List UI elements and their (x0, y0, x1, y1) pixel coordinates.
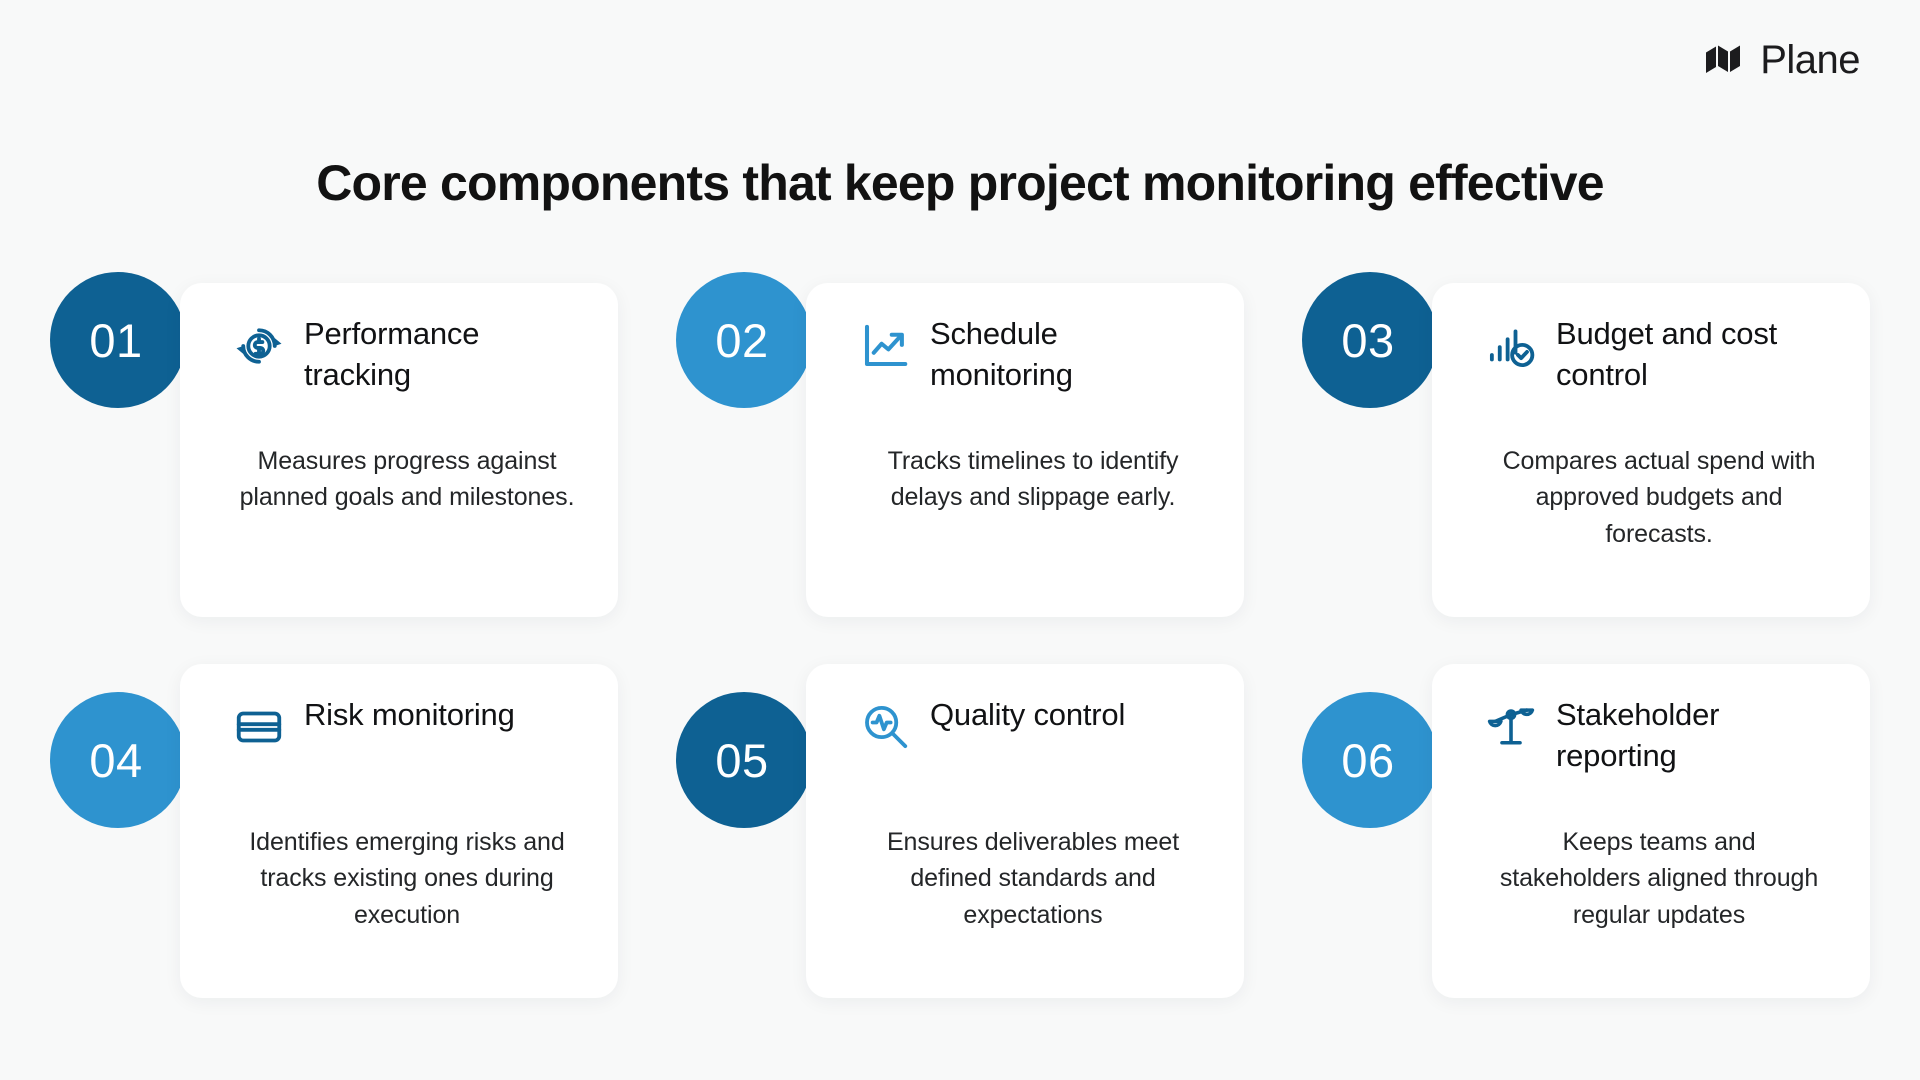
card-header: Budget and cost control (1484, 311, 1834, 423)
card-title: Stakeholder reporting (1556, 692, 1834, 776)
component-card-04[interactable]: Risk monitoring Identifies emerging risk… (180, 664, 618, 998)
balance-scale-icon (1484, 700, 1538, 754)
component-cell-04: 04 Risk monitoring Identifies emerging r… (50, 664, 618, 1012)
step-number: 04 (89, 737, 146, 784)
step-badge-01: 01 (50, 272, 186, 408)
card-description: Compares actual spend with approved budg… (1484, 443, 1834, 552)
component-card-01[interactable]: Performance tracking Measures progress a… (180, 283, 618, 617)
bar-chart-check-icon (1484, 319, 1538, 373)
component-card-02[interactable]: Schedule monitoring Tracks timelines to … (806, 283, 1244, 617)
component-cell-01: 01 Performance tracking Measure (50, 272, 618, 620)
card-header: Performance tracking (232, 311, 582, 423)
component-cell-05: 05 Quality control Ensures deliverables … (676, 664, 1244, 1012)
card-description: Identifies emerging risks and tracks exi… (232, 824, 582, 933)
brand-logo: Plane (1706, 40, 1860, 80)
card-header: Stakeholder reporting (1484, 692, 1834, 804)
component-cell-06: 06 Stakeholder reporting Keeps (1302, 664, 1870, 1012)
card-description: Ensures deliverables meet defined standa… (858, 824, 1208, 933)
page-title: Core components that keep project monito… (0, 156, 1920, 211)
step-number: 06 (1341, 737, 1398, 784)
currency-refresh-icon (232, 319, 286, 373)
step-number: 05 (715, 737, 772, 784)
trending-up-chart-icon (858, 319, 912, 373)
credit-card-icon (232, 700, 286, 754)
step-number: 01 (89, 317, 146, 364)
step-badge-04: 04 (50, 692, 186, 828)
components-grid: 01 Performance tracking Measure (50, 272, 1870, 1012)
card-header: Quality control (858, 692, 1208, 804)
card-description: Tracks timelines to identify delays and … (858, 443, 1208, 516)
component-cell-02: 02 Schedule monitoring Tracks timelines … (676, 272, 1244, 620)
component-cell-03: 03 Budget and cost control Compares actu… (1302, 272, 1870, 620)
magnifier-pulse-icon (858, 700, 912, 754)
card-header: Schedule monitoring (858, 311, 1208, 423)
step-badge-02: 02 (676, 272, 812, 408)
card-title: Quality control (930, 692, 1125, 735)
card-title: Risk monitoring (304, 692, 515, 735)
card-title: Performance tracking (304, 311, 582, 395)
plane-logo-icon (1706, 43, 1746, 77)
component-card-05[interactable]: Quality control Ensures deliverables mee… (806, 664, 1244, 998)
component-card-03[interactable]: Budget and cost control Compares actual … (1432, 283, 1870, 617)
step-badge-06: 06 (1302, 692, 1438, 828)
brand-name: Plane (1760, 40, 1860, 80)
step-number: 03 (1341, 317, 1398, 364)
card-description: Keeps teams and stakeholders aligned thr… (1484, 824, 1834, 933)
step-badge-03: 03 (1302, 272, 1438, 408)
step-badge-05: 05 (676, 692, 812, 828)
card-description: Measures progress against planned goals … (232, 443, 582, 516)
card-header: Risk monitoring (232, 692, 582, 804)
card-title: Budget and cost control (1556, 311, 1834, 395)
card-title: Schedule monitoring (930, 311, 1208, 395)
component-card-06[interactable]: Stakeholder reporting Keeps teams and st… (1432, 664, 1870, 998)
step-number: 02 (715, 317, 772, 364)
